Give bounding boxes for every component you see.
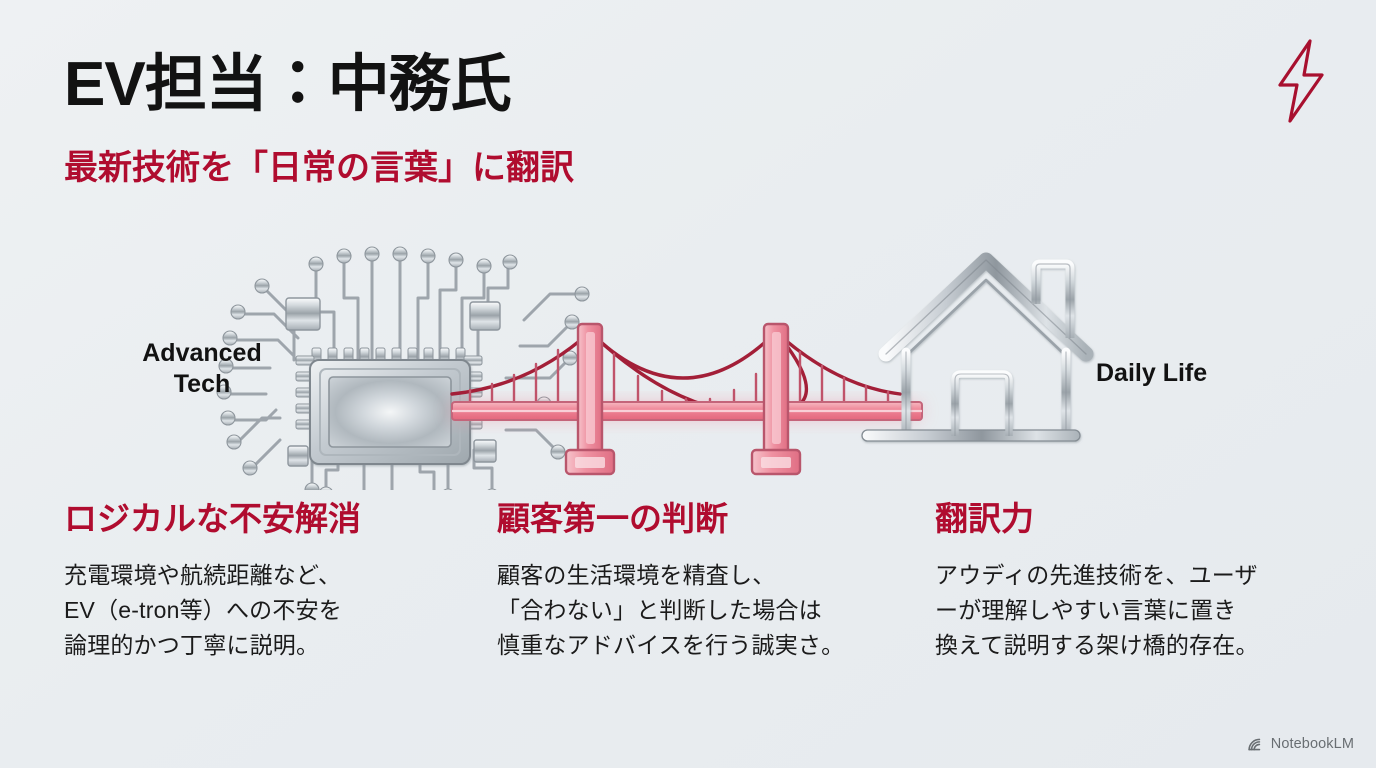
notebooklm-label: NotebookLM (1271, 736, 1354, 752)
illustration-label-left: Advanced Tech (112, 338, 292, 399)
feature-heading-3: 翻訳力 (935, 500, 1335, 538)
feature-body-2-line3: 慎重なアドバイスを行う誠実さ。 (497, 632, 844, 658)
illustration-label-right: Daily Life (1096, 358, 1286, 389)
feature-body-2-line1: 顧客の生活環境を精査し、 (497, 562, 775, 588)
feature-body-1-line2: EV（e-tron等）への不安を (64, 597, 342, 623)
feature-body-1-line3: 論理的かつ丁寧に説明。 (64, 632, 319, 658)
page-subtitle: 最新技術を「日常の言葉」に翻訳 (64, 148, 574, 189)
lightning-bolt-icon (1266, 38, 1336, 124)
feature-body-3-line1: アウディの先進技術を、ユーザ (935, 562, 1258, 588)
feature-body-2: 顧客の生活環境を精査し、 「合わない」と判断した場合は 慎重なアドバイスを行う誠… (497, 558, 917, 663)
feature-column-3: 翻訳力 アウディの先進技術を、ユーザ ーが理解しやすい言葉に置き 換えて説明する… (935, 500, 1335, 663)
feature-body-2-line2: 「合わない」と判断した場合は (497, 597, 822, 623)
feature-columns: ロジカルな不安解消 充電環境や航続距離など、 EV（e-tron等）への不安を … (0, 500, 1376, 700)
notebooklm-watermark: NotebookLM (1247, 736, 1354, 752)
feature-body-1: 充電環境や航続距離など、 EV（e-tron等）への不安を 論理的かつ丁寧に説明… (64, 558, 484, 663)
feature-heading-1: ロジカルな不安解消 (64, 500, 484, 538)
feature-body-3-line3: 換えて説明する架け橋的存在。 (935, 632, 1259, 658)
slide-canvas: EV担当：中務氏 最新技術を「日常の言葉」に翻訳 (0, 0, 1376, 768)
feature-column-1: ロジカルな不安解消 充電環境や航続距離など、 EV（e-tron等）への不安を … (64, 500, 484, 663)
page-title: EV担当：中務氏 (64, 52, 511, 118)
feature-heading-2: 顧客第一の判断 (497, 500, 917, 538)
feature-body-1-line1: 充電環境や航続距離など、 (64, 562, 341, 588)
feature-column-2: 顧客第一の判断 顧客の生活環境を精査し、 「合わない」と判断した場合は 慎重なア… (497, 500, 917, 663)
feature-body-3-line2: ーが理解しやすい言葉に置き (935, 597, 1236, 623)
label-left-line1: Advanced (142, 339, 261, 367)
label-left-line2: Tech (174, 370, 231, 398)
feature-body-3: アウディの先進技術を、ユーザ ーが理解しやすい言葉に置き 換えて説明する架け橋的… (935, 558, 1335, 663)
notebooklm-spiral-icon (1247, 737, 1264, 752)
